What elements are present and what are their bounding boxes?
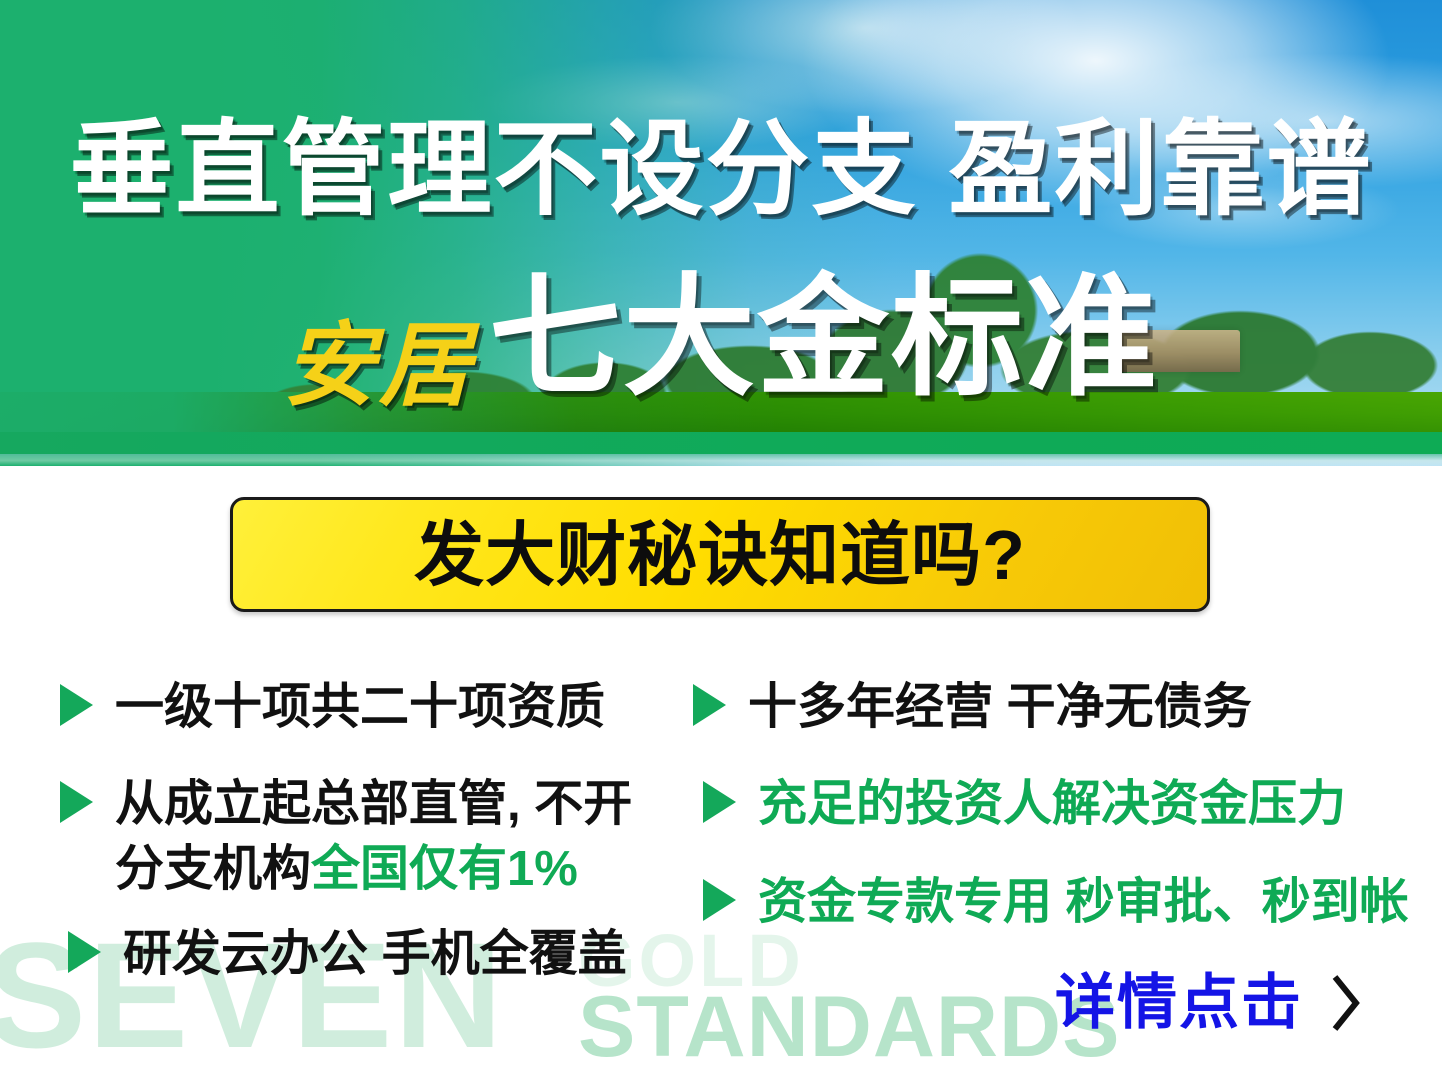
triangle-right-icon: [703, 781, 736, 823]
cta-question-text: 发大财秘诀知道吗?: [414, 520, 1026, 590]
hero-headline-secondary: 安居七大金标准: [0, 272, 1442, 404]
feature-text-highlight: 充足的投资人解决资金压力: [758, 777, 1346, 831]
feature-text-plain: 研发云办公 手机全覆盖: [123, 927, 627, 981]
triangle-right-icon: [703, 879, 736, 921]
feature-text: 一级十项共二十项资质: [115, 675, 605, 740]
feature-text-line: 资金专款专用 秒审批、秒到帐: [758, 870, 1409, 935]
feature-text-highlight: 全国仅有1%: [311, 842, 578, 896]
feature-text: 研发云办公 手机全覆盖: [123, 922, 627, 987]
feature-text-plain: 从成立起总部直管, 不开: [115, 777, 632, 831]
hero-headline-primary: 垂直管理不设分支 盈利靠谱: [0, 118, 1442, 222]
watermark-standards: STANDARDS: [578, 984, 1121, 1066]
feature-text-line: 充足的投资人解决资金压力: [758, 772, 1346, 837]
triangle-right-icon: [693, 684, 726, 726]
cta-question-banner[interactable]: 发大财秘诀知道吗?: [230, 497, 1210, 612]
triangle-right-icon: [60, 781, 93, 823]
feature-text-line: 分支机构全国仅有1%: [115, 837, 632, 902]
detail-link-button[interactable]: 详情点击: [1055, 972, 1363, 1034]
promo-banner: 垂直管理不设分支 盈利靠谱 安居七大金标准 发大财秘诀知道吗? SEVEN GO…: [0, 0, 1442, 1066]
feature-text: 资金专款专用 秒审批、秒到帐: [758, 870, 1409, 935]
feature-text: 充足的投资人解决资金压力: [758, 772, 1346, 837]
feature-text-plain: 一级十项共二十项资质: [115, 680, 605, 734]
feature-item: 十多年经营 干净无债务: [693, 675, 1252, 740]
feature-text-plain: 分支机构: [115, 842, 311, 896]
feature-text-line: 研发云办公 手机全覆盖: [123, 922, 627, 987]
hero-headline-title: 七大金标准: [489, 272, 1159, 404]
feature-item: 充足的投资人解决资金压力: [703, 772, 1346, 837]
hero-bottom-fade: [0, 454, 1442, 466]
detail-link-label: 详情点击: [1055, 973, 1303, 1033]
feature-item: 资金专款专用 秒审批、秒到帐: [703, 870, 1409, 935]
feature-text-plain: 十多年经营 干净无债务: [748, 680, 1252, 734]
feature-item: 从成立起总部直管, 不开分支机构全国仅有1%: [60, 772, 632, 902]
feature-text-line: 从成立起总部直管, 不开: [115, 772, 632, 837]
hero-section: 垂直管理不设分支 盈利靠谱 安居七大金标准: [0, 0, 1442, 466]
triangle-right-icon: [68, 931, 101, 973]
feature-item: 研发云办公 手机全覆盖: [68, 922, 627, 987]
feature-text-line: 十多年经营 干净无债务: [748, 675, 1252, 740]
hero-bottom-band: [0, 432, 1442, 454]
chevron-right-icon: [1329, 972, 1363, 1034]
hero-brand-name: 安居: [283, 320, 475, 412]
feature-list-section: 一级十项共二十项资质 从成立起总部直管, 不开分支机构全国仅有1% 研发云办公 …: [0, 655, 1442, 985]
feature-text-line: 一级十项共二十项资质: [115, 675, 605, 740]
feature-text: 十多年经营 干净无债务: [748, 675, 1252, 740]
triangle-right-icon: [60, 684, 93, 726]
feature-text-highlight: 资金专款专用 秒审批、秒到帐: [758, 875, 1409, 929]
feature-text: 从成立起总部直管, 不开分支机构全国仅有1%: [115, 772, 632, 902]
feature-item: 一级十项共二十项资质: [60, 675, 605, 740]
